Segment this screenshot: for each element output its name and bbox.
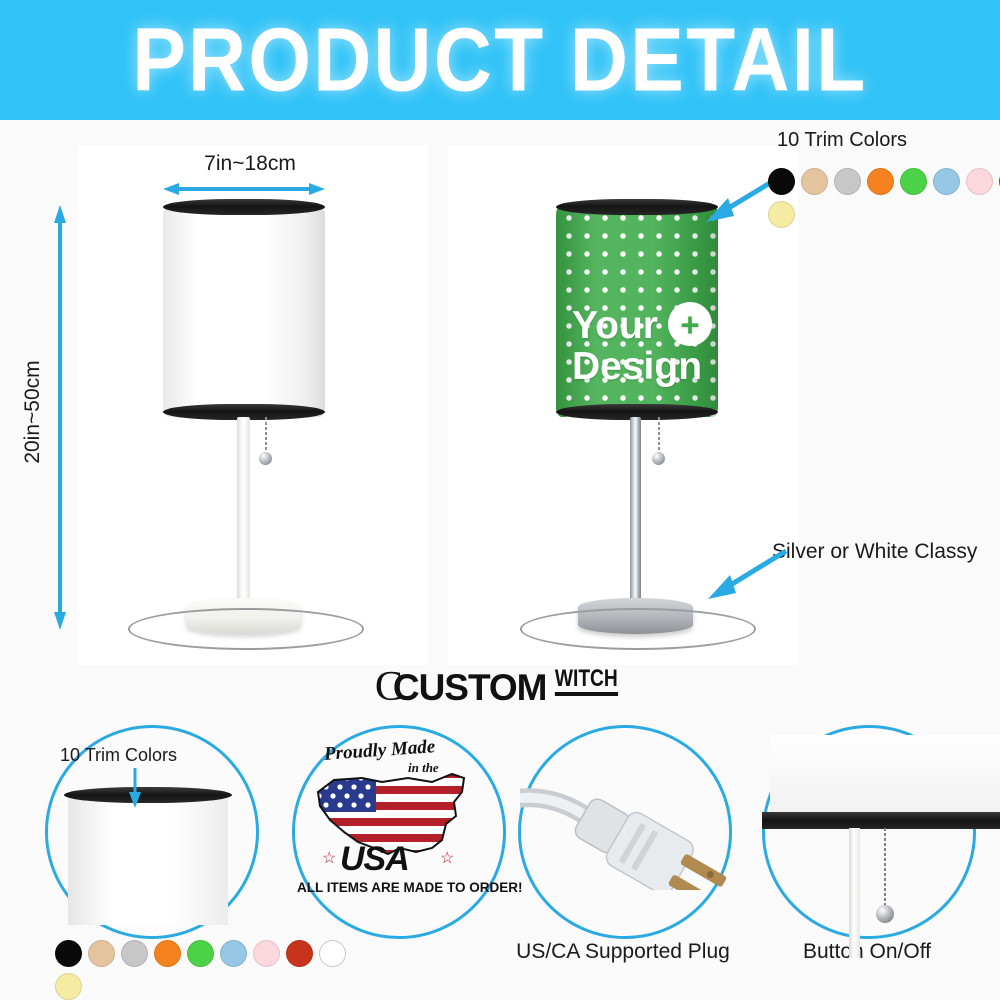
bottom-swatch-row-1 xyxy=(55,940,346,967)
usa-subtitle-text: ALL ITEMS ARE MADE TO ORDER! xyxy=(297,880,487,895)
shade-surface xyxy=(163,205,325,417)
your-design-text: Your Design + xyxy=(572,305,708,387)
power-cord-ring xyxy=(128,608,364,650)
mini-shade-trim xyxy=(64,787,232,803)
trim-colors-title: 10 Trim Colors xyxy=(777,129,907,152)
pull-chain-bead[interactable] xyxy=(652,452,665,465)
onoff-lamp-pole xyxy=(849,828,860,958)
plug-label: US/CA Supported Plug xyxy=(498,940,748,964)
usa-star-left-icon: ☆ xyxy=(322,848,336,868)
trim-swatch-orange[interactable] xyxy=(867,168,894,195)
trim-swatch-tan[interactable] xyxy=(801,168,828,195)
page-title: PRODUCT DETAIL xyxy=(132,9,867,112)
trim-swatch-black[interactable] xyxy=(768,168,795,195)
trim-swatch-orange[interactable] xyxy=(154,940,181,967)
trim-swatch-yellow[interactable] xyxy=(768,201,795,228)
mini-trim-colors-label: 10 Trim Colors xyxy=(60,745,177,766)
trim-swatch-red[interactable] xyxy=(286,940,313,967)
trim-swatch-pink[interactable] xyxy=(966,168,993,195)
logo-primary-text: CUSTOM xyxy=(393,669,547,706)
pull-chain xyxy=(658,417,660,455)
onoff-shade-trim xyxy=(762,812,1000,829)
trim-swatch-tan[interactable] xyxy=(88,940,115,967)
mini-shade-surface xyxy=(68,795,228,925)
trim-swatch-gray[interactable] xyxy=(834,168,861,195)
logo-secondary-text: WITCH xyxy=(554,667,617,696)
main-stage xyxy=(0,120,1000,665)
add-design-plus-icon[interactable]: + xyxy=(668,302,712,346)
usa-star-right-icon: ☆ xyxy=(440,848,454,868)
product-detail-page: PRODUCT DETAIL 7in~18cm 20in~50cm xyxy=(0,0,1000,1000)
button-on-off-label: Button On/Off xyxy=(742,940,992,964)
height-dimension-arrow xyxy=(52,205,68,630)
power-cord-ring xyxy=(520,608,756,650)
trim-swatch-black[interactable] xyxy=(55,940,82,967)
brand-logo: C CUSTOM WITCH xyxy=(0,665,1000,709)
trim-swatch-white[interactable] xyxy=(319,940,346,967)
trim-swatch-pink[interactable] xyxy=(253,940,280,967)
power-plug-icon xyxy=(520,780,740,890)
base-finish-label: Silver or White Classy xyxy=(772,540,977,564)
lamp-pole-white xyxy=(237,417,250,607)
trim-swatch-gray[interactable] xyxy=(121,940,148,967)
width-dimension-arrow xyxy=(163,182,325,196)
bottom-swatch-row-2 xyxy=(55,973,82,1000)
lamp-shade-blank xyxy=(163,205,325,417)
onoff-pull-chain xyxy=(884,828,886,908)
design-line-2: Design xyxy=(572,345,702,388)
trim-colors-swatch-row-2 xyxy=(768,201,795,228)
height-dimension-label: 20in~50cm xyxy=(21,332,45,492)
onoff-shade-surface xyxy=(770,735,1000,820)
base-finish-arrow xyxy=(700,545,790,601)
trim-swatch-light-blue[interactable] xyxy=(933,168,960,195)
made-in-usa-badge: Proudly Made in the xyxy=(300,740,480,900)
onoff-pull-chain-bead[interactable] xyxy=(876,905,894,923)
pull-chain xyxy=(265,417,267,455)
usa-word-text: USA xyxy=(340,840,409,879)
shade-trim-top-icon xyxy=(163,199,325,215)
trim-swatch-yellow[interactable] xyxy=(55,973,82,1000)
lamp-pole-silver xyxy=(630,417,641,607)
shade-trim-top-icon xyxy=(556,199,718,215)
trim-swatch-green[interactable] xyxy=(187,940,214,967)
design-line-1: Your xyxy=(572,304,658,347)
trim-colors-swatch-row-1 xyxy=(768,168,1000,195)
trim-swatch-green[interactable] xyxy=(900,168,927,195)
page-header: PRODUCT DETAIL xyxy=(0,0,1000,120)
width-dimension-label: 7in~18cm xyxy=(180,152,320,176)
pull-chain-bead[interactable] xyxy=(259,452,272,465)
mini-trim-arrow xyxy=(128,768,142,808)
trim-swatch-light-blue[interactable] xyxy=(220,940,247,967)
lamp-shade-custom[interactable]: Your Design + xyxy=(556,205,718,417)
